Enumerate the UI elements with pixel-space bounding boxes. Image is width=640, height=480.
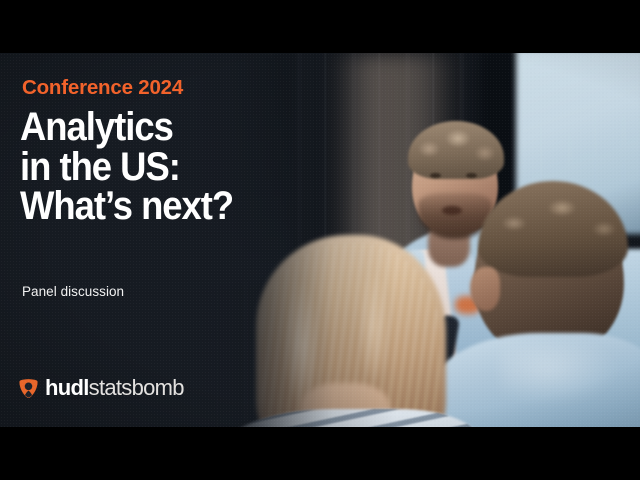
page-title: Analytics in the US: What’s next? <box>20 108 233 227</box>
eyebrow-label: Conference 2024 <box>22 76 183 100</box>
subtitle-label: Panel discussion <box>22 284 124 299</box>
headline-line-1: Analytics <box>20 108 233 148</box>
headline-line-2: in the US: <box>20 148 233 188</box>
video-thumbnail-frame: Conference 2024 Analytics in the US: Wha… <box>0 0 640 480</box>
title-overlay: Conference 2024 Analytics in the US: Wha… <box>22 53 402 427</box>
headline-line-3: What’s next? <box>20 187 233 227</box>
logo-wordmark: hudlstatsbomb <box>45 377 184 399</box>
brand-logo: hudlstatsbomb <box>18 377 184 399</box>
logo-statsbomb-text: statsbomb <box>89 375 184 400</box>
letterbox-top-bar <box>0 0 640 53</box>
hudl-shield-icon <box>18 378 39 399</box>
logo-hudl-text: hudl <box>45 375 89 400</box>
letterbox-bottom-bar <box>0 427 640 480</box>
scene-photo: Conference 2024 Analytics in the US: Wha… <box>0 53 640 427</box>
